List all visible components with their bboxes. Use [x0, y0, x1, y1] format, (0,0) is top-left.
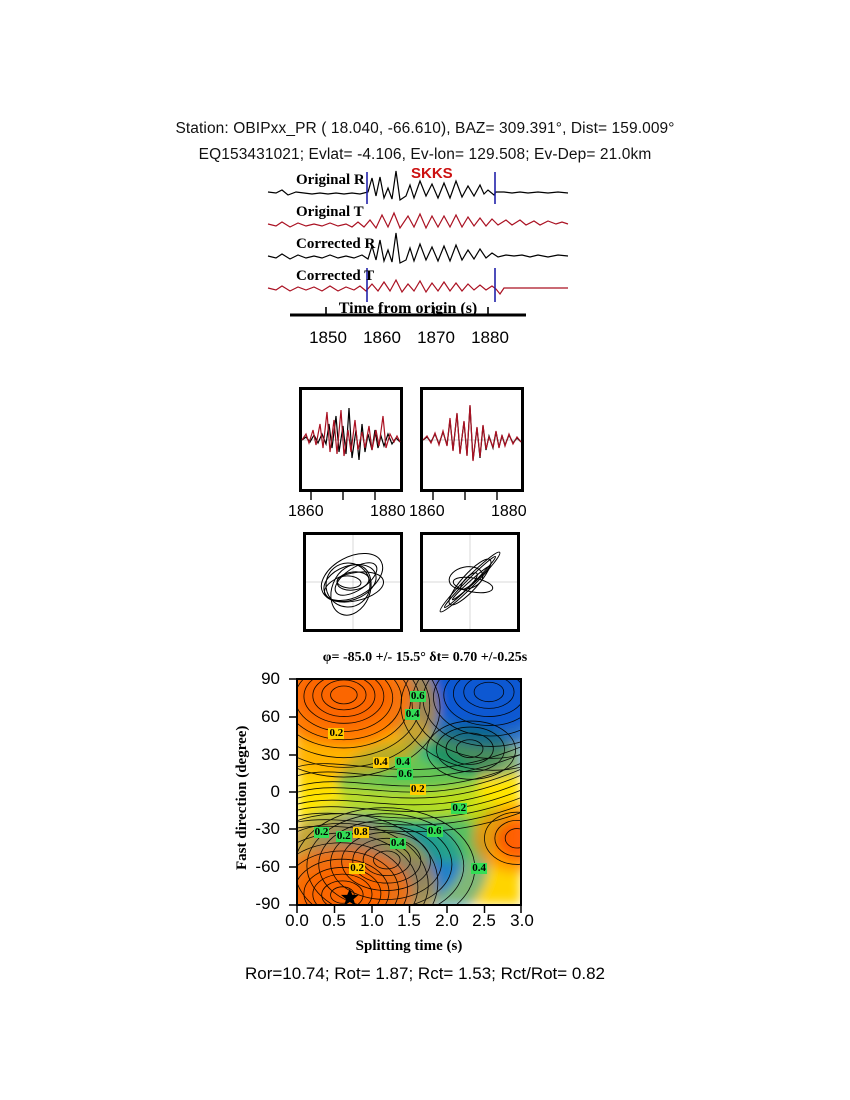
- contour-xtick-4: 2.0: [432, 911, 462, 931]
- fastslow-panel-corrected: [420, 387, 524, 492]
- particle-motion-corrected: [420, 532, 520, 632]
- fastslow-right-tick-1880: 1880: [491, 503, 527, 521]
- time-tick-1860: 1860: [360, 328, 404, 348]
- time-tick-1870: 1870: [414, 328, 458, 348]
- contour-xtick-6: 3.0: [507, 911, 537, 931]
- contour-ylabel: Fast direction (degree): [234, 726, 251, 870]
- header-line-station: Station: OBIPxx_PR ( 18.040, -66.610), B…: [0, 120, 850, 138]
- splitting-energy-contour: 0.20.60.40.40.40.60.20.20.20.80.40.60.20…: [296, 678, 522, 906]
- contour-xtick-1: 0.5: [319, 911, 349, 931]
- contour-xlabel: Splitting time (s): [296, 938, 522, 955]
- contour-xtick-0: 0.0: [282, 911, 312, 931]
- contour-yaxis-ticks: [286, 678, 296, 906]
- trace-label-corrected-t: Corrected T: [296, 268, 374, 285]
- contour-xtick-3: 1.5: [394, 911, 424, 931]
- fastslow-right-tick-1860: 1860: [409, 503, 445, 521]
- phase-label-skks: SKKS: [411, 165, 453, 182]
- contour-ytick-m90: -90: [240, 894, 280, 914]
- trace-label-original-t: Original T: [296, 204, 364, 221]
- trace-label-corrected-r: Corrected R: [296, 236, 375, 253]
- footer-stats: Ror=10.74; Rot= 1.87; Rct= 1.53; Rct/Rot…: [0, 964, 850, 984]
- fastslow-left-tick-1860: 1860: [288, 503, 324, 521]
- trace-label-original-r: Original R: [296, 172, 365, 189]
- time-tick-1850: 1850: [306, 328, 350, 348]
- contour-surface: [298, 680, 520, 904]
- time-axis-title: Time from origin (s): [288, 300, 528, 318]
- fastslow-panel-uncorrected: [299, 387, 403, 492]
- header-line-event: EQ153431021; Evlat= -4.106, Ev-lon= 129.…: [0, 146, 850, 164]
- contour-xtick-2: 1.0: [357, 911, 387, 931]
- time-tick-1880: 1880: [468, 328, 512, 348]
- contour-ytick-90: 90: [240, 669, 280, 689]
- contour-title: φ= -85.0 +/- 15.5° δt= 0.70 +/-0.25s: [0, 650, 850, 666]
- contour-ytick-60: 60: [240, 707, 280, 727]
- fastslow-left-tick-1880: 1880: [370, 503, 406, 521]
- particle-motion-uncorrected: [303, 532, 403, 632]
- contour-xtick-5: 2.5: [469, 911, 499, 931]
